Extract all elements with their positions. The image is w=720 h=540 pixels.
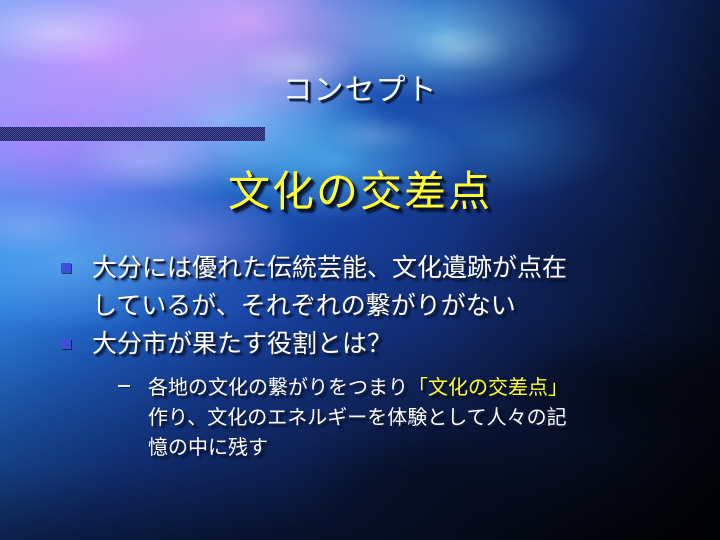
- dash-bullet-icon: [118, 385, 130, 387]
- bullet-1-line-2: しているが、それぞれの繋がりがない: [92, 292, 516, 320]
- sub-bullet-segment-4: 憶の中に残す: [148, 437, 268, 459]
- slide-title: コンセプト: [0, 74, 720, 108]
- bullet-2-line-1: 大分市が果たす役割とは？: [92, 330, 392, 358]
- square-bullet-icon: [61, 339, 71, 349]
- square-bullet-icon: [61, 263, 71, 273]
- sub-bullet-segment-3: 作り、文化のエネルギーを体験として人々の記: [148, 407, 567, 429]
- slide-canvas: コンセプト 文化の交差点 大分には優れた伝統芸能、文化遺跡が点在 しているが、そ…: [0, 0, 720, 540]
- sub-list: 各地の文化の繋がりをつまり「文化の交差点」 作り、文化のエネルギーを体験として人…: [58, 373, 706, 463]
- sub-bullet-segment-1: 各地の文化の繋がりをつまり: [148, 377, 408, 399]
- sub-bullet-highlight: 「文化の交差点」: [408, 377, 568, 399]
- list-item: 大分には優れた伝統芸能、文化遺跡が点在 しているが、それぞれの繋がりがない: [58, 249, 706, 325]
- slide-heading: 文化の交差点: [0, 168, 720, 216]
- sub-list-item: 各地の文化の繋がりをつまり「文化の交差点」 作り、文化のエネルギーを体験として人…: [118, 373, 706, 463]
- title-divider-rule: [0, 127, 265, 141]
- list-item: 大分市が果たす役割とは？: [58, 325, 706, 363]
- slide-body-list: 大分には優れた伝統芸能、文化遺跡が点在 しているが、それぞれの繋がりがない 大分…: [58, 249, 706, 463]
- bullet-1-line-1: 大分には優れた伝統芸能、文化遺跡が点在: [92, 254, 567, 282]
